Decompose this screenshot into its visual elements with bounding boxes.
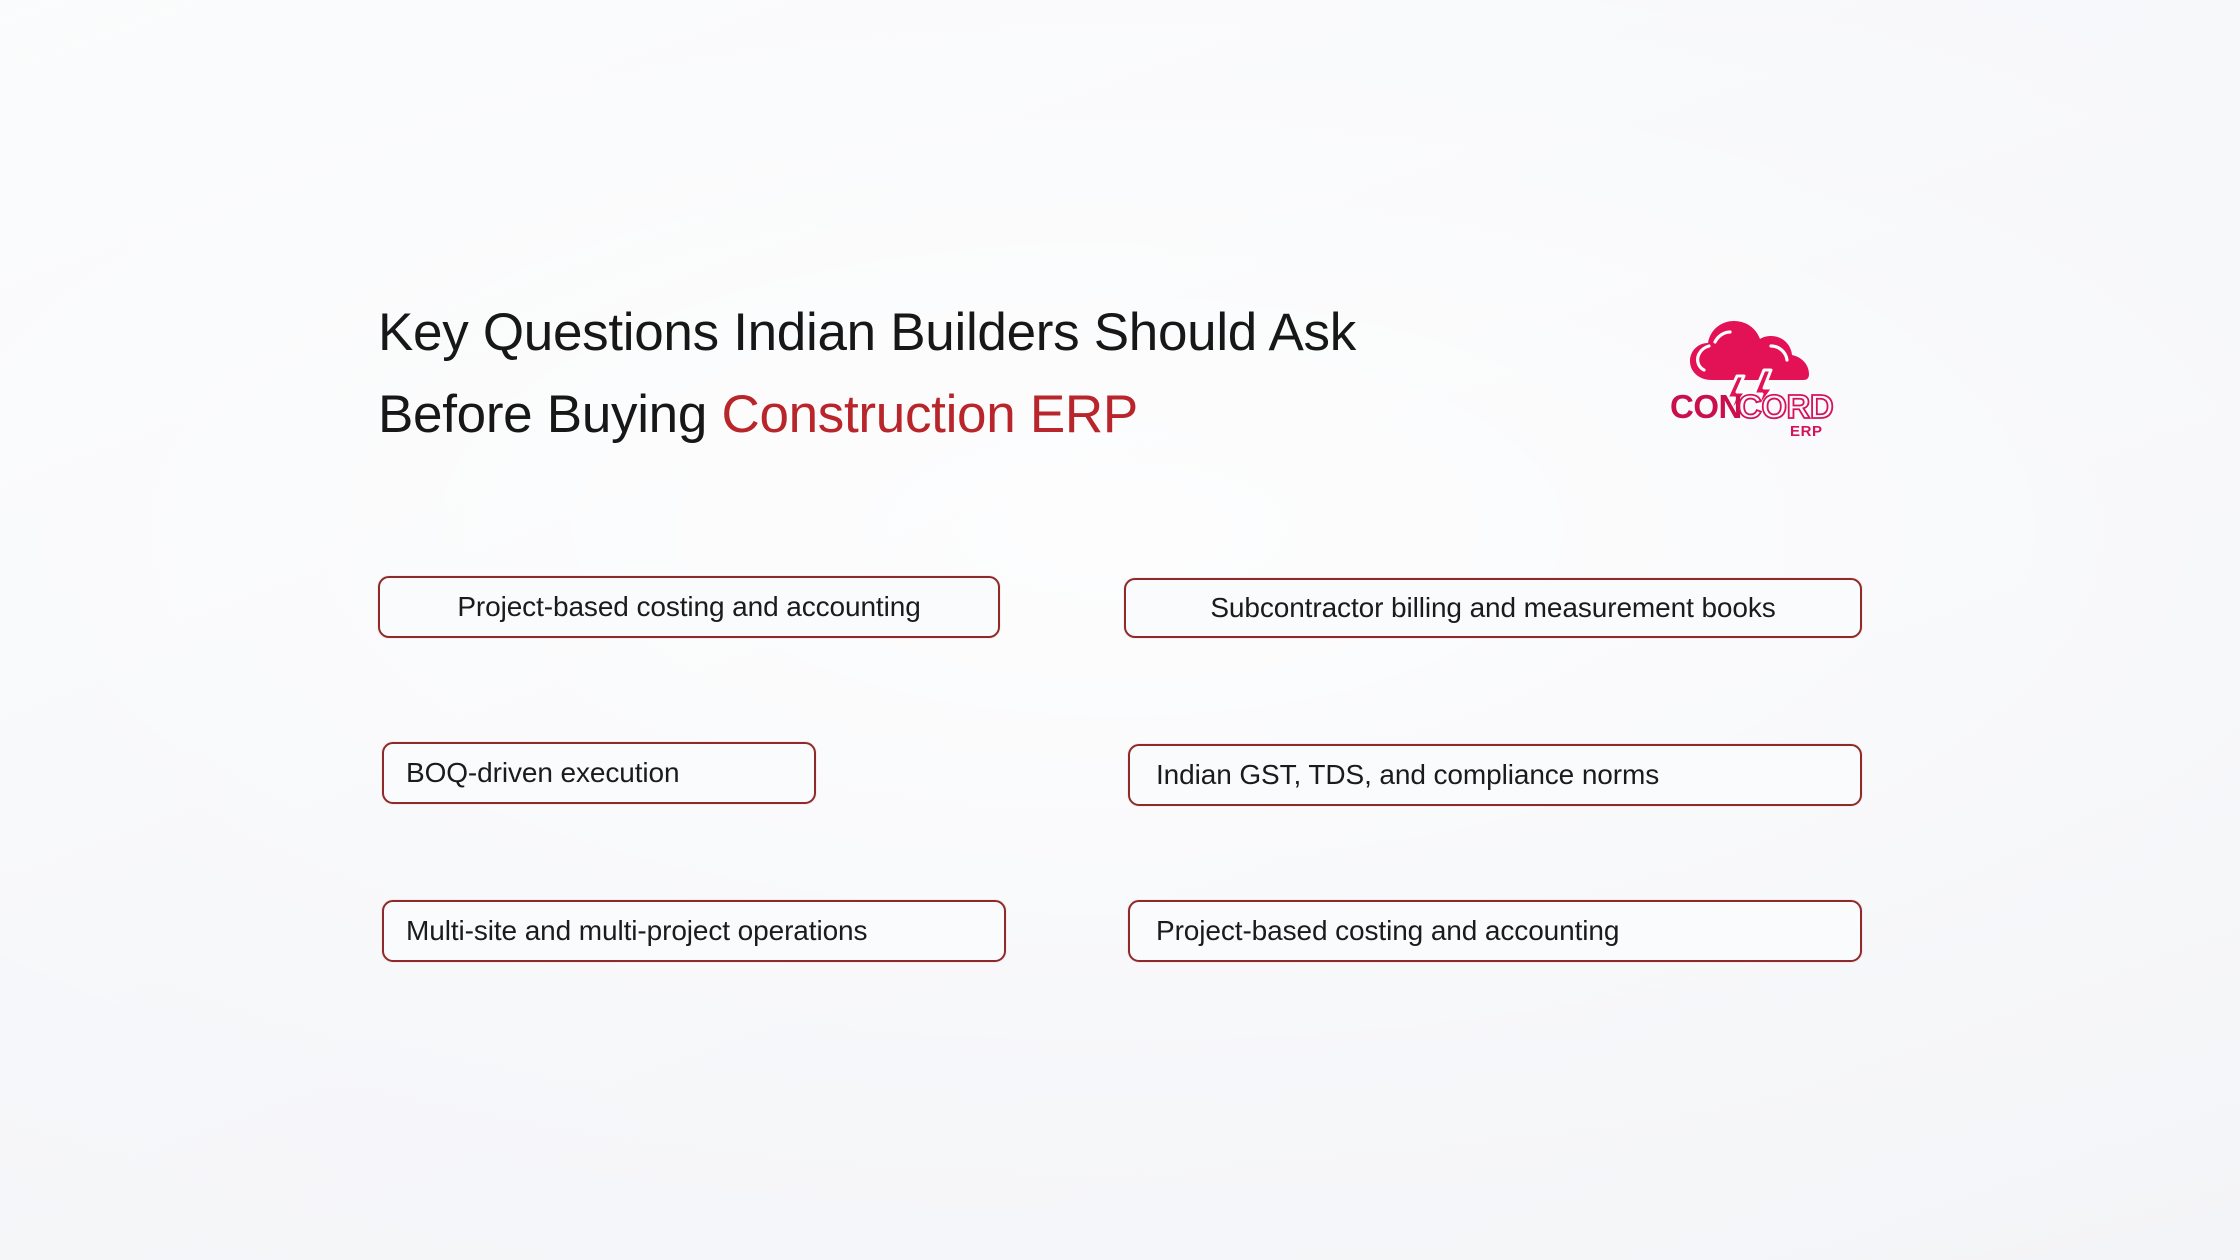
checklist-item-label: Project-based costing and accounting xyxy=(457,592,920,623)
heading-line-2-accent: Construction ERP xyxy=(721,385,1137,444)
cloud-shape xyxy=(1690,321,1809,380)
slide-canvas: Key Questions Indian Builders Should Ask… xyxy=(0,0,2240,1260)
checklist-item-left-2[interactable]: BOQ-driven execution xyxy=(382,742,816,804)
checklist-item-label: Multi-site and multi-project operations xyxy=(384,916,867,947)
logo-wordmark-outline: CORD xyxy=(1738,388,1833,425)
logo-sub-mark: ERP xyxy=(1790,423,1823,438)
checklist-item-right-1[interactable]: Subcontractor billing and measurement bo… xyxy=(1124,578,1862,638)
checklist-item-label: Subcontractor billing and measurement bo… xyxy=(1210,593,1775,624)
checklist-item-left-1[interactable]: Project-based costing and accounting xyxy=(378,576,1000,638)
checklist-item-label: Project-based costing and accounting xyxy=(1130,916,1619,947)
checklist-item-label: BOQ-driven execution xyxy=(384,758,679,789)
heading-line-1: Key Questions Indian Builders Should Ask xyxy=(378,303,1356,362)
logo-wordmark-solid: CON xyxy=(1670,388,1742,425)
checklist-item-label: Indian GST, TDS, and compliance norms xyxy=(1130,760,1659,791)
checklist-item-left-3[interactable]: Multi-site and multi-project operations xyxy=(382,900,1006,962)
slide-heading: Key Questions Indian Builders Should Ask… xyxy=(378,292,1638,456)
checklist-item-right-3[interactable]: Project-based costing and accounting xyxy=(1128,900,1862,962)
concord-erp-logo: CON CORD ERP xyxy=(1668,312,1844,438)
checklist-item-right-2[interactable]: Indian GST, TDS, and compliance norms xyxy=(1128,744,1862,806)
heading-line-2-plain: Before Buying xyxy=(378,385,721,444)
